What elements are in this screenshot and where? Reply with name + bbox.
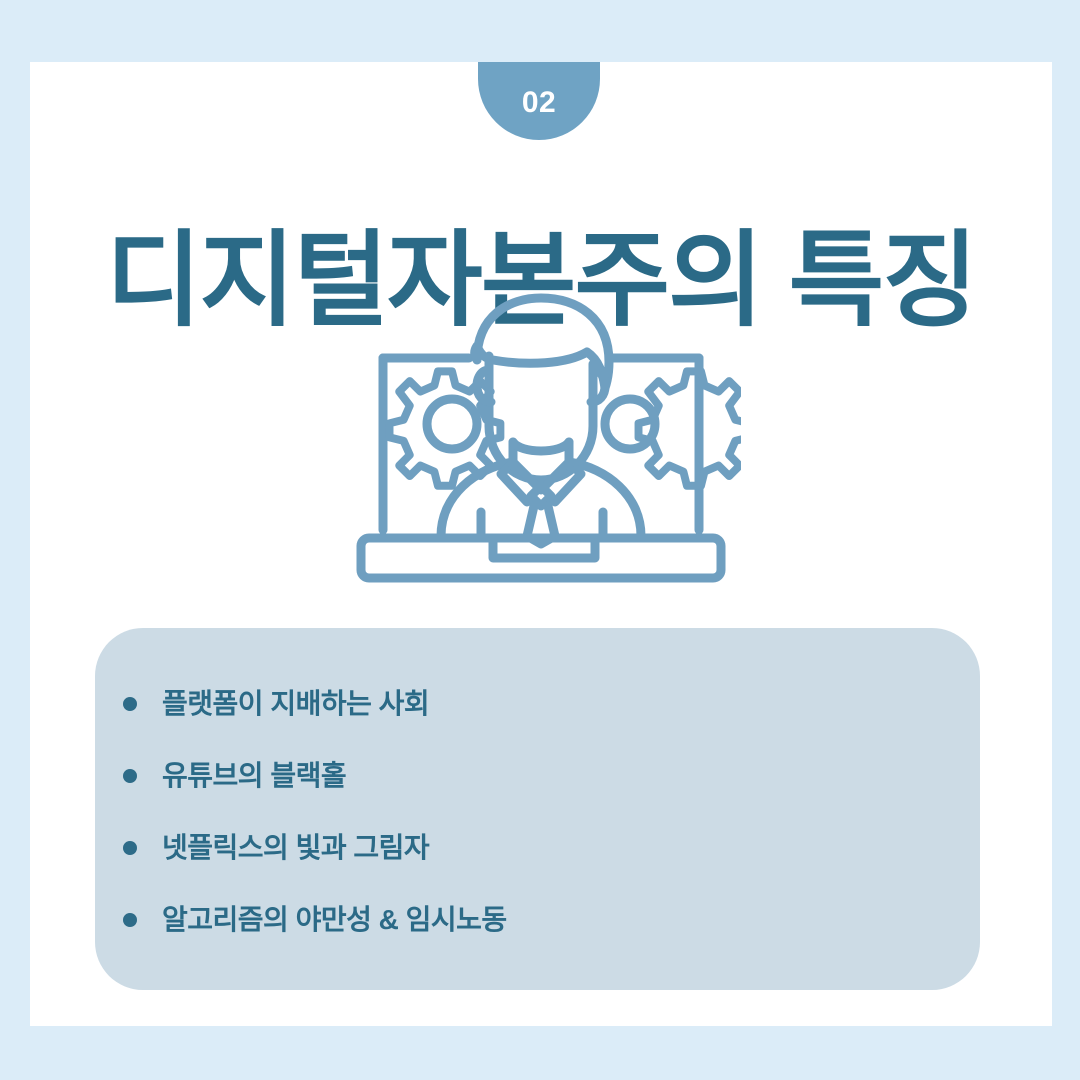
list-item-label: 넷플릭스의 빛과 그림자 bbox=[162, 831, 429, 865]
slide-root: 02 디지털자본주의 특징 bbox=[0, 0, 1080, 1080]
content-card: 02 디지털자본주의 특징 bbox=[30, 62, 1052, 1026]
feature-list: 플랫폼이 지배하는 사회 유튜브의 블랙홀 넷플릭스의 빛과 그림자 알고리즘의… bbox=[123, 668, 956, 956]
person-shoulders bbox=[441, 462, 641, 536]
gear-left-hole bbox=[427, 399, 477, 449]
list-item[interactable]: 넷플릭스의 빛과 그림자 bbox=[123, 812, 956, 884]
laptop-gears-person-icon bbox=[341, 290, 741, 590]
feature-list-panel: 플랫폼이 지배하는 사회 유튜브의 블랙홀 넷플릭스의 빛과 그림자 알고리즘의… bbox=[95, 628, 980, 990]
section-number-label: 02 bbox=[522, 84, 556, 118]
list-item[interactable]: 유튜브의 블랙홀 bbox=[123, 740, 956, 812]
illustration-person-in-laptop-with-gears bbox=[341, 290, 741, 590]
list-item-label: 유튜브의 블랙홀 bbox=[162, 759, 346, 793]
list-item[interactable]: 알고리즘의 야만성 & 임시노동 bbox=[123, 884, 956, 956]
bullet-dot-icon bbox=[123, 769, 137, 783]
bullet-dot-icon bbox=[123, 913, 137, 927]
list-item[interactable]: 플랫폼이 지배하는 사회 bbox=[123, 668, 956, 740]
bullet-dot-icon bbox=[123, 841, 137, 855]
list-item-label: 알고리즘의 야만성 & 임시노동 bbox=[162, 903, 507, 937]
section-number-badge: 02 bbox=[478, 62, 600, 140]
list-item-label: 플랫폼이 지배하는 사회 bbox=[162, 687, 429, 721]
gear-right bbox=[605, 371, 741, 485]
neck-base bbox=[513, 442, 569, 451]
bullet-dot-icon bbox=[123, 697, 137, 711]
